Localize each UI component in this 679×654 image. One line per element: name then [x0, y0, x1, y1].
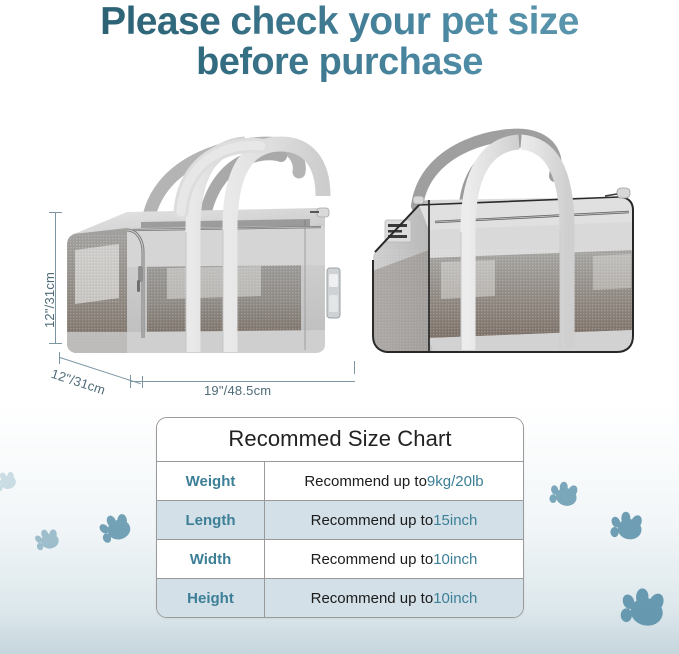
paw-print-left-3 [90, 495, 143, 548]
dim-width-cap-right [354, 361, 355, 374]
row-value-prefix: Recommend up to [304, 473, 427, 490]
row-label-weight: Weight [157, 462, 265, 500]
pet-carrier-rear-view [355, 100, 655, 390]
brand-label-patch [385, 220, 411, 242]
size-chart-title: Recommed Size Chart [157, 418, 523, 462]
paw-print-right-1 [544, 466, 592, 514]
row-value-number: 9kg/20lb [427, 473, 484, 490]
table-row: Weight Recommend up to 9kg/20lb [157, 462, 523, 501]
product-infographic: Please check your pet size before purcha… [0, 0, 679, 654]
dim-height-label: 12"/31cm [42, 272, 57, 328]
table-row: Width Recommend up to 10inch [157, 540, 523, 579]
row-value-width: Recommend up to 10inch [265, 540, 523, 578]
dim-height-cap-bottom [49, 343, 62, 344]
page-title: Please check your pet size before purcha… [0, 2, 679, 82]
table-row: Length Recommend up to 15inch [157, 501, 523, 540]
dim-width-label: 19"/48.5cm [204, 383, 271, 398]
headline-line-2: before purchase [0, 42, 679, 82]
dim-height-cap-top [49, 212, 62, 213]
row-label-width: Width [157, 540, 265, 578]
row-value-prefix: Recommend up to [311, 551, 434, 568]
paw-print-right-3 [612, 564, 679, 638]
paw-print-left-1 [0, 459, 25, 495]
paw-print-left-2 [30, 516, 68, 554]
row-value-weight: Recommend up to 9kg/20lb [265, 462, 523, 500]
pet-carrier-front-view [55, 100, 355, 390]
dim-width-cap-left [130, 375, 131, 388]
dim-depth-cap-start [59, 352, 60, 364]
headline-line-1: Please check your pet size [0, 2, 679, 42]
row-value-prefix: Recommend up to [311, 512, 434, 529]
table-row: Height Recommend up to 10inch [157, 579, 523, 617]
row-label-length: Length [157, 501, 265, 539]
row-value-height: Recommend up to 10inch [265, 579, 523, 617]
paw-print-right-2 [604, 494, 657, 547]
row-value-length: Recommend up to 15inch [265, 501, 523, 539]
row-value-number: 10inch [433, 551, 477, 568]
row-value-prefix: Recommend up to [311, 590, 434, 607]
size-chart: Recommed Size Chart Weight Recommend up … [156, 417, 524, 618]
row-value-number: 15inch [433, 512, 477, 529]
row-label-height: Height [157, 579, 265, 617]
row-value-number: 10inch [433, 590, 477, 607]
